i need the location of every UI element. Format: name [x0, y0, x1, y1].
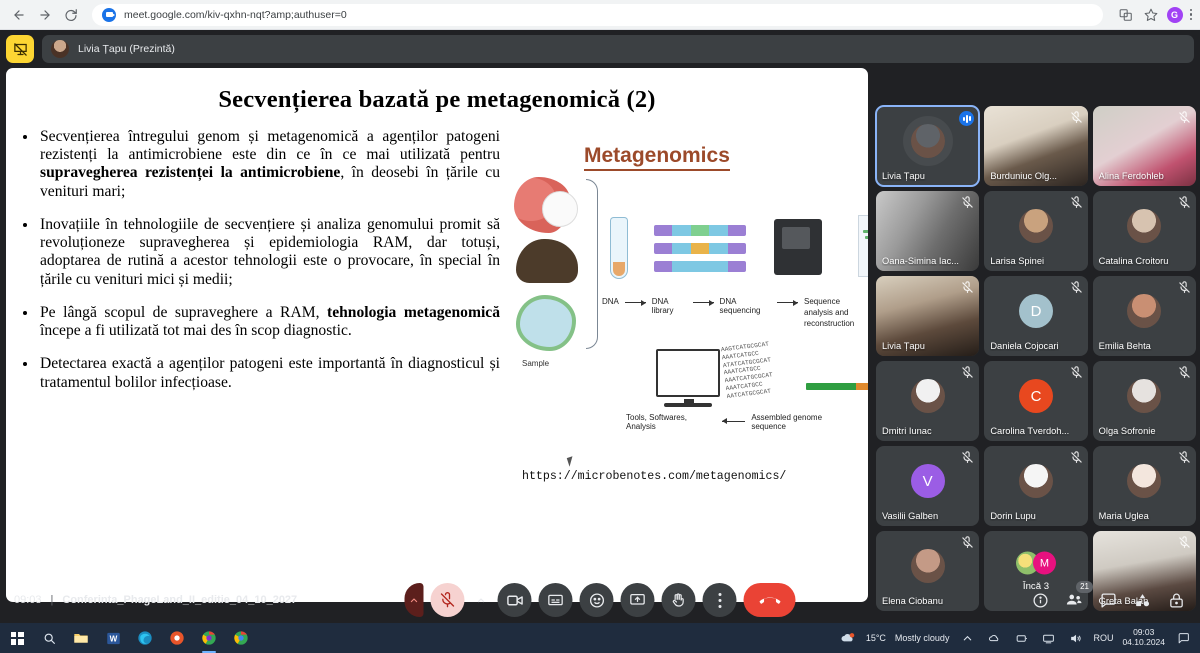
participant-tile[interactable]: Catalina Croitoru [1093, 191, 1196, 271]
avatar [1019, 209, 1053, 243]
metagenomics-figure: Metagenomics Sample [506, 128, 856, 427]
participant-grid: Livia Țapu Burduniuc Olg... Alina Ferdoh… [876, 106, 1196, 611]
microphone-button[interactable] [431, 583, 465, 617]
slide-bullet: Pe lângă scopul de supraveghere a RAM, t… [38, 304, 500, 340]
onedrive-icon[interactable] [985, 629, 1003, 647]
flow-step-dna: DNA [602, 297, 619, 306]
reload-button[interactable] [60, 4, 82, 26]
participant-tile[interactable]: Olga Sofronie [1093, 361, 1196, 441]
mic-off-icon [1070, 451, 1083, 464]
presentation-stage[interactable]: Secvențierea bazată pe metagenomică (2) … [6, 68, 868, 602]
assembled-genome-label: Assembled genome sequence [751, 413, 856, 431]
profile-avatar[interactable]: G [1167, 7, 1183, 23]
mic-off-icon [961, 196, 974, 209]
sequencer-icon [774, 219, 822, 275]
avatar [1127, 209, 1161, 243]
camera-button[interactable] [498, 583, 532, 617]
leave-call-button[interactable] [744, 583, 796, 617]
participant-tile[interactable]: Alina Ferdohleb [1093, 106, 1196, 186]
arrow-left-icon [722, 421, 745, 422]
avatar [1127, 464, 1161, 498]
svg-text:W: W [109, 634, 117, 643]
meet-app: Livia Țapu (Prezintă) Secvențierea bazat… [0, 30, 1200, 623]
participant-tile[interactable]: D Daniela Cojocari [984, 276, 1087, 356]
mic-off-icon [961, 281, 974, 294]
brace-icon [586, 179, 598, 349]
chrome-menu-icon[interactable] [1190, 9, 1193, 21]
meeting-info: 09:03 | Conferinta_PhageLand_II_editie_0… [14, 594, 297, 606]
windows-taskbar: W 15°C Mostly cloudy [0, 623, 1200, 653]
meeting-details-icon[interactable] [1030, 590, 1050, 610]
figure-canvas: Sample [506, 177, 856, 427]
mic-off-icon [1178, 196, 1191, 209]
chat-icon[interactable] [1098, 590, 1118, 610]
participant-name: Daniela Cojocari [990, 341, 1069, 351]
chrome-icon[interactable] [232, 629, 250, 647]
avatar [911, 379, 945, 413]
presentation-banner: Livia Țapu (Prezintă) [6, 34, 1194, 64]
taskbar-clock[interactable]: 09:03 04.10.2024 [1122, 628, 1165, 648]
avatar [1127, 379, 1161, 413]
tray-chevron-up-icon[interactable] [958, 629, 976, 647]
participant-name: Dorin Lupu [990, 511, 1069, 521]
network-icon[interactable] [1039, 629, 1057, 647]
monitor-base-icon [664, 403, 712, 407]
camera-options-button[interactable] [472, 583, 491, 617]
captions-button[interactable] [539, 583, 573, 617]
dna-strands-icon [654, 225, 746, 272]
arrow-right-icon [625, 302, 646, 303]
mic-options-button[interactable] [405, 583, 424, 617]
presenter-chip[interactable]: Livia Țapu (Prezintă) [42, 35, 1194, 63]
participant-name: Dmitri Iunac [882, 426, 961, 436]
slide-bullet-list: Secvențierea întregului genom și metagen… [20, 128, 500, 427]
sequence-letters-icon: AAGTCATGCGCATAAATCATGCCATATCATGCGCATAAAT… [721, 336, 814, 408]
participant-tile[interactable]: Emilia Behta [1093, 276, 1196, 356]
notifications-icon[interactable] [1174, 629, 1192, 647]
back-button[interactable] [8, 4, 30, 26]
address-bar[interactable]: meet.google.com/kiv-qxhn-nqt?amp;authuse… [92, 4, 1103, 26]
mic-off-icon [1178, 451, 1191, 464]
presenter-avatar [51, 40, 69, 58]
participant-tile[interactable]: Dmitri Iunac [876, 361, 979, 441]
avatar [1019, 464, 1053, 498]
translate-icon[interactable] [1117, 6, 1135, 24]
test-tube-icon [610, 217, 628, 279]
edge-icon[interactable] [136, 629, 154, 647]
figure-bottom-flow: Tools, Softwares, Analysis Assembled gen… [626, 413, 856, 431]
participant-tile[interactable]: Dorin Lupu [984, 446, 1087, 526]
participant-tile[interactable]: Livia Țapu [876, 106, 979, 186]
flow-step-analysis: Sequence analysis and reconstruction [804, 297, 856, 329]
speaking-indicator-icon [959, 111, 974, 126]
people-count-badge: 21 [1076, 581, 1093, 593]
browser-toolbar: meet.google.com/kiv-qxhn-nqt?amp;authuse… [0, 0, 1200, 30]
mic-off-icon [1070, 366, 1083, 379]
presentation-icon [6, 35, 34, 63]
host-controls-lock-icon[interactable] [1166, 590, 1186, 610]
participant-tile[interactable]: Oana-Simina Iac... [876, 191, 979, 271]
participant-name: Alina Ferdohleb [1099, 171, 1178, 181]
avatar-initial: D [1019, 294, 1053, 328]
figure-flow: DNA DNA library DNA sequencing Sequence … [602, 297, 856, 329]
participant-name: Catalina Croitoru [1099, 256, 1178, 266]
meet-favicon-icon [102, 8, 116, 22]
participant-tile[interactable]: Larisa Spinei [984, 191, 1087, 271]
participant-tile[interactable]: Livia Țapu [876, 276, 979, 356]
present-button[interactable] [621, 583, 655, 617]
flow-step-sequencing: DNA sequencing [720, 297, 772, 315]
slide-bullet: Inovațiile în tehnologiile de secvențier… [38, 216, 500, 289]
arrow-right-icon [693, 302, 714, 303]
avatar-initial: C [1019, 379, 1053, 413]
chrome-orange-icon[interactable] [168, 629, 186, 647]
avatar-initial: V [911, 464, 945, 498]
separator: | [51, 594, 54, 606]
participant-name: Vasilii Galben [882, 511, 961, 521]
mic-off-icon [1178, 281, 1191, 294]
slide: Secvențierea bazată pe metagenomică (2) … [6, 68, 868, 602]
more-options-button[interactable] [703, 583, 737, 617]
chrome-meet-icon[interactable] [200, 629, 218, 647]
participant-tile[interactable]: C Carolina Tverdoh... [984, 361, 1087, 441]
people-icon[interactable]: 21 [1064, 590, 1084, 610]
participant-name: Livia Țapu [882, 341, 961, 351]
overflow-avatars: M [1016, 552, 1056, 575]
meeting-control-bar: 09:03 | Conferinta_PhageLand_II_editie_0… [0, 577, 1200, 623]
mic-off-icon [1178, 111, 1191, 124]
url-text: meet.google.com/kiv-qxhn-nqt?amp;authuse… [124, 9, 347, 21]
figure-title: Metagenomics [584, 144, 730, 171]
activities-icon[interactable] [1132, 590, 1152, 610]
participant-name: Carolina Tverdoh... [990, 426, 1069, 436]
word-icon[interactable]: W [104, 629, 122, 647]
mic-off-icon [1178, 536, 1191, 549]
file-explorer-icon[interactable] [72, 629, 90, 647]
weather-desc: Mostly cloudy [895, 633, 950, 643]
gut-illustration-icon [514, 177, 570, 233]
participant-tile[interactable]: Maria Uglea [1093, 446, 1196, 526]
flow-step-library: DNA library [652, 297, 687, 315]
meeting-name: Conferinta_PhageLand_II_editie_04_10_202… [62, 594, 297, 606]
arrow-right-icon [777, 302, 798, 303]
participant-tile[interactable]: Burduniuc Olg... [984, 106, 1087, 186]
participant-name: Larisa Spinei [990, 256, 1069, 266]
mic-off-icon [961, 536, 974, 549]
input-language[interactable]: ROU [1093, 633, 1113, 643]
clock-date: 04.10.2024 [1122, 638, 1165, 648]
tools-label: Tools, Softwares, Analysis [626, 413, 716, 431]
meeting-clock: 09:03 [14, 594, 42, 606]
meeting-right-actions: 21 [1030, 590, 1186, 610]
mouse-cursor-icon [567, 456, 575, 466]
mic-off-icon [1070, 196, 1083, 209]
assembled-genome-bar [806, 383, 868, 390]
soil-illustration-icon [516, 239, 578, 283]
participant-name: Oana-Simina Iac... [882, 256, 961, 266]
participant-name: Olga Sofronie [1099, 426, 1178, 436]
avatar [911, 124, 945, 158]
computer-monitor-icon [656, 349, 720, 397]
weather-temp: 15°C [866, 633, 886, 643]
participant-name: Maria Uglea [1099, 511, 1178, 521]
bookmark-star-icon[interactable] [1142, 6, 1160, 24]
start-button-icon[interactable] [8, 629, 26, 647]
raise-hand-button[interactable] [662, 583, 696, 617]
battery-icon[interactable] [1012, 629, 1030, 647]
participant-name: Livia Țapu [882, 171, 961, 181]
mic-off-icon [961, 366, 974, 379]
participant-name: Burduniuc Olg... [990, 171, 1069, 181]
sample-label: Sample [522, 359, 549, 368]
figure-source-url: https://microbenotes.com/metagenomics/ [522, 470, 786, 483]
slide-title: Secvențierea bazată pe metagenomică (2) [6, 68, 868, 114]
cell-illustration-icon [516, 295, 576, 351]
slide-bullet: Secvențierea întregului genom și metagen… [38, 128, 500, 201]
reactions-button[interactable] [580, 583, 614, 617]
volume-icon[interactable] [1066, 629, 1084, 647]
mic-off-icon [1178, 366, 1191, 379]
mic-off-icon [1070, 111, 1083, 124]
participant-tile[interactable]: V Vasilii Galben [876, 446, 979, 526]
mic-off-icon [1070, 281, 1083, 294]
slide-bullet: Detectarea exactă a agenților patogeni e… [38, 355, 500, 391]
analysis-chart-icon [858, 215, 868, 277]
avatar: M [1033, 552, 1056, 575]
presenter-name: Livia Țapu (Prezintă) [78, 43, 175, 55]
avatar [1127, 294, 1161, 328]
participant-name: Emilia Behta [1099, 341, 1178, 351]
search-icon[interactable] [40, 629, 58, 647]
forward-button[interactable] [34, 4, 56, 26]
weather-icon[interactable] [839, 629, 857, 647]
mic-off-icon [961, 451, 974, 464]
call-controls [405, 583, 796, 617]
